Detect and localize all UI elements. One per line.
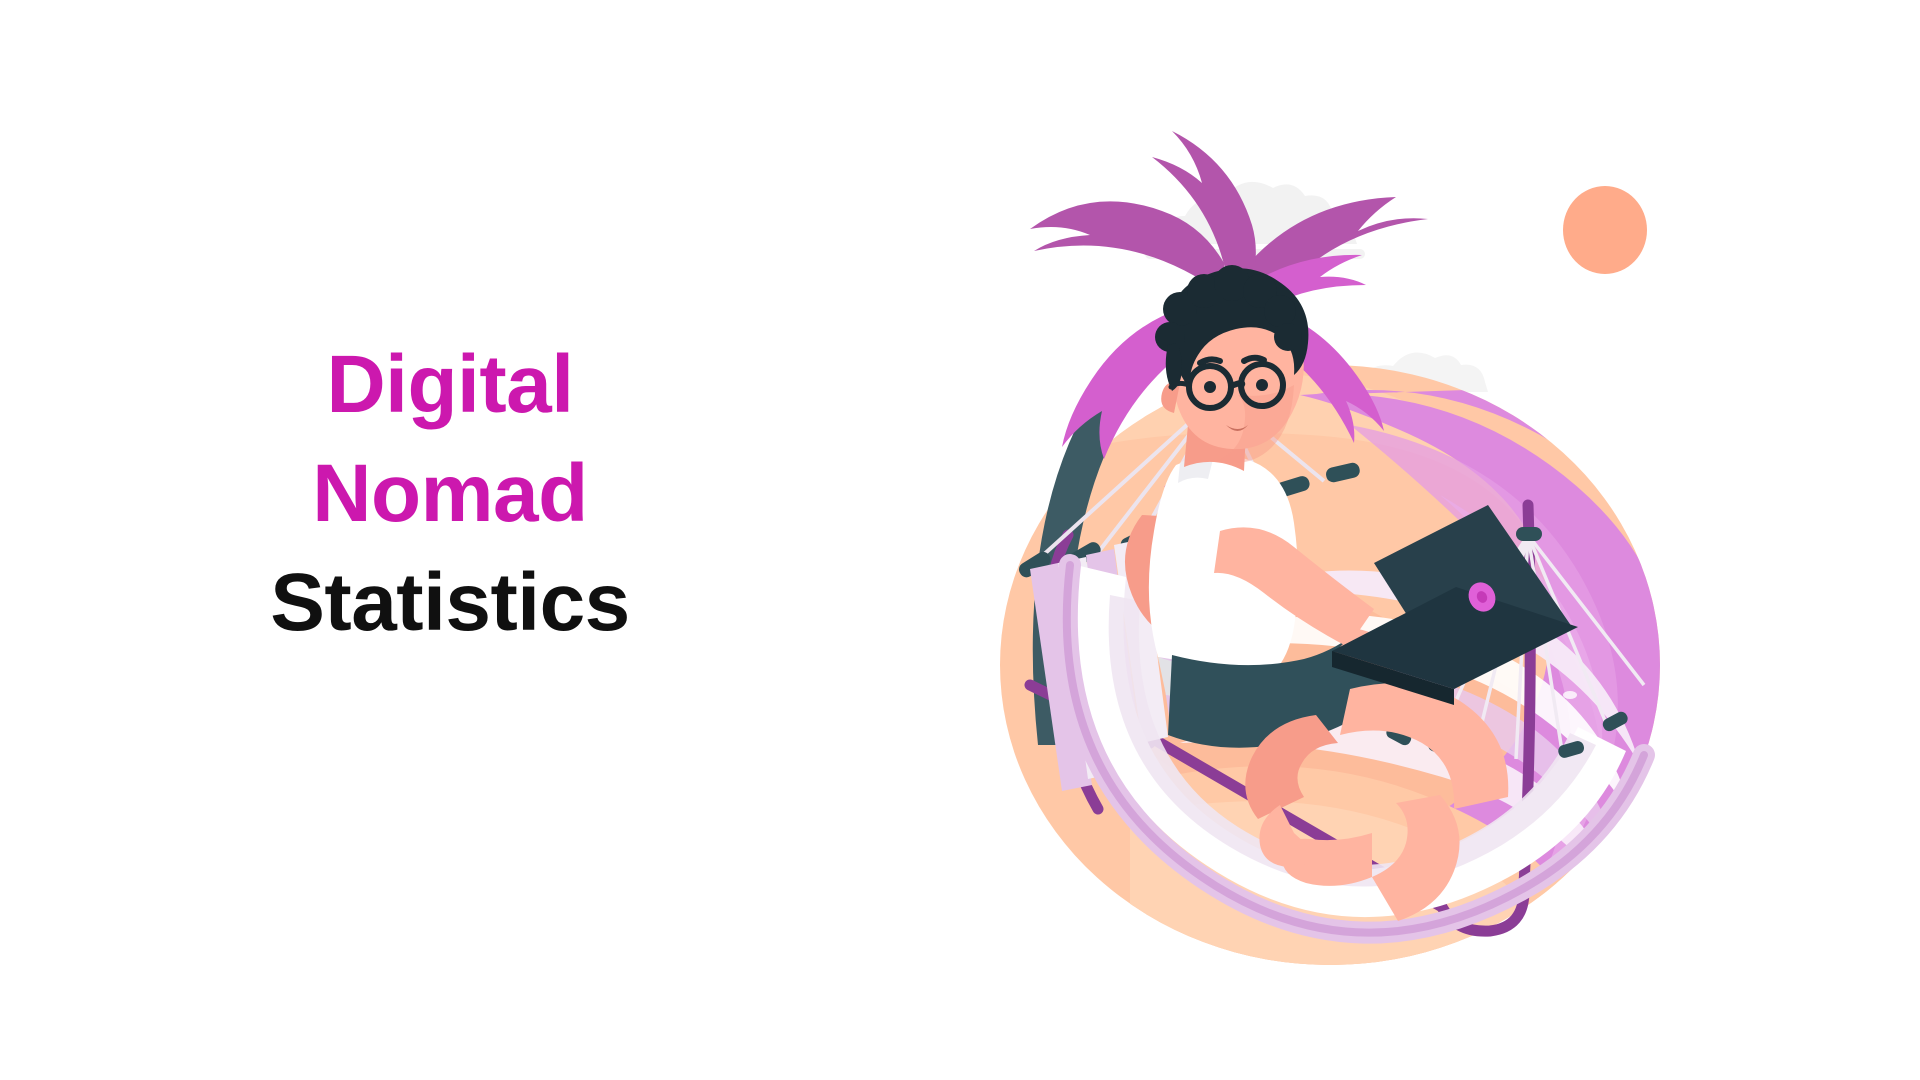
title-line-statistics: Statistics (150, 548, 750, 657)
poster-canvas: Digital Nomad Statistics (0, 0, 1920, 1080)
sun-icon (1563, 186, 1647, 274)
title-line-nomad: Nomad (150, 439, 750, 548)
hero-illustration (880, 95, 1840, 995)
page-title: Digital Nomad Statistics (150, 330, 750, 657)
title-line-digital: Digital (150, 330, 750, 439)
